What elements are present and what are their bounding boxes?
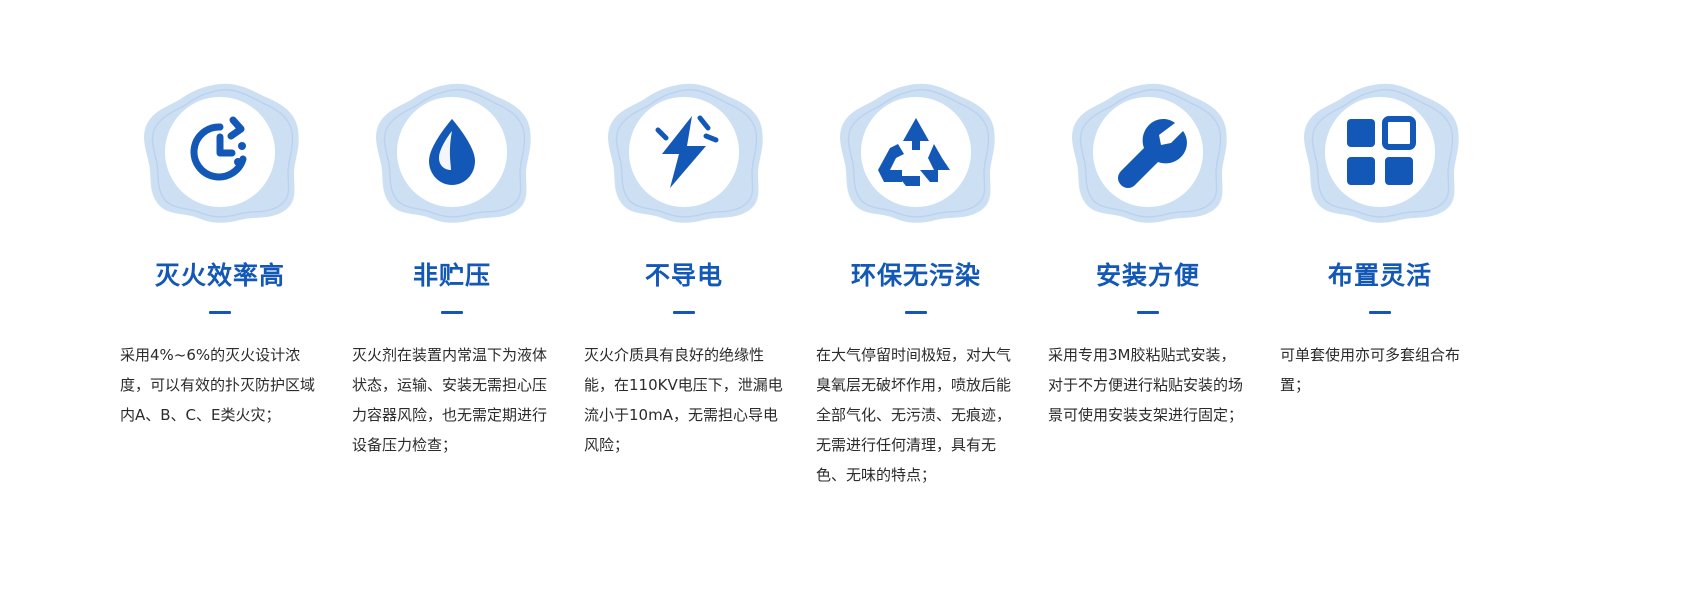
feature-title: 非贮压 [413,264,491,289]
badge-6 [1292,78,1468,226]
feature-title: 布置灵活 [1328,264,1432,289]
wrench-icon [1108,112,1188,192]
feature-card-6: 布置灵活 可单套使用亦可多套组合布置； [1264,78,1496,400]
feature-title: 不导电 [645,264,723,289]
feature-card-1: 灭火效率高 采用4%~6%的灭火设计浓度，可以有效的扑灭防护区域内A、B、C、E… [104,78,336,430]
feature-title: 安装方便 [1096,264,1200,289]
title-divider [441,311,463,314]
feature-card-2: 非贮压 灭火剂在装置内常温下为液体状态，运输、安装无需担心压力容器风险，也无需定… [336,78,568,460]
feature-description: 可单套使用亦可多套组合布置； [1280,340,1480,400]
feature-card-5: 安装方便 采用专用3M胶粘贴式安装，对于不方便进行粘贴安装的场景可使用安装支架进… [1032,78,1264,430]
badge-3 [596,78,772,226]
badge-4 [828,78,1004,226]
water-droplet-icon [412,112,492,192]
title-divider [1137,311,1159,314]
badge-5 [1060,78,1236,226]
lightning-bolt-icon [644,112,724,192]
grid-blocks-icon [1340,112,1420,192]
feature-description: 灭火介质具有良好的绝缘性能，在110KV电压下，泄漏电流小于10mA，无需担心导… [584,340,784,460]
feature-grid: 灭火效率高 采用4%~6%的灭火设计浓度，可以有效的扑灭防护区域内A、B、C、E… [0,0,1700,597]
feature-description: 在大气停留时间极短，对大气臭氧层无破坏作用，喷放后能全部气化、无污渍、无痕迹，无… [816,340,1016,490]
feature-card-4: 环保无污染 在大气停留时间极短，对大气臭氧层无破坏作用，喷放后能全部气化、无污渍… [800,78,1032,490]
feature-title: 环保无污染 [851,264,981,289]
feature-description: 采用4%~6%的灭火设计浓度，可以有效的扑灭防护区域内A、B、C、E类火灾； [120,340,320,430]
title-divider [209,311,231,314]
feature-description: 灭火剂在装置内常温下为液体状态，运输、安装无需担心压力容器风险，也无需定期进行设… [352,340,552,460]
feature-card-3: 不导电 灭火介质具有良好的绝缘性能，在110KV电压下，泄漏电流小于10mA，无… [568,78,800,460]
clock-timer-icon [180,112,260,192]
badge-2 [364,78,540,226]
title-divider [673,311,695,314]
recycle-icon [876,112,956,192]
badge-1 [132,78,308,226]
title-divider [1369,311,1391,314]
feature-description: 采用专用3M胶粘贴式安装，对于不方便进行粘贴安装的场景可使用安装支架进行固定； [1048,340,1248,430]
title-divider [905,311,927,314]
feature-title: 灭火效率高 [155,264,285,289]
